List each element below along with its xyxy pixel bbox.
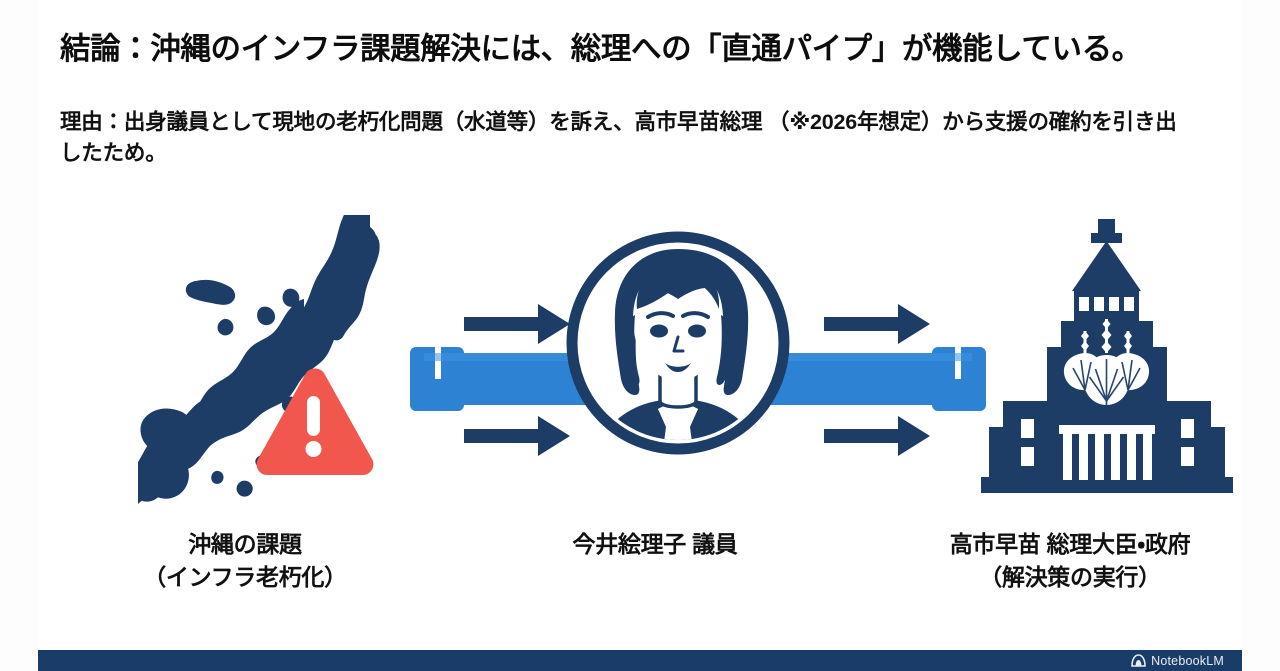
caption-government-line2: （解決策の実行） — [880, 561, 1260, 594]
slide-canvas: 結論：沖縄のインフラ課題解決には、総理への「直通パイプ」が機能している。 理由：… — [0, 0, 1280, 671]
caption-legislator: 今井絵理子 議員 — [510, 528, 800, 561]
diagram-node-legislator — [553, 215, 803, 515]
female-politician-portrait-icon — [553, 223, 803, 523]
caption-government: 高市早苗 総理大臣・政府 （解決策の実行） — [880, 528, 1260, 593]
notebooklm-logo-icon — [1131, 654, 1146, 667]
caption-legislator-line1: 今井絵理子 議員 — [573, 531, 738, 557]
page-title: 結論：沖縄のインフラ課題解決には、総理への「直通パイプ」が機能している。 — [60, 30, 1190, 68]
warning-triangle-icon — [248, 363, 378, 483]
diagram-node-okinawa — [138, 215, 408, 515]
footer-bar: NotebookLM — [38, 650, 1242, 671]
diagram-node-government — [963, 215, 1233, 515]
caption-government-line1: 高市早苗 総理大臣・政府 — [950, 531, 1191, 557]
process-diagram — [38, 215, 1242, 515]
notebooklm-label: NotebookLM — [1151, 654, 1224, 668]
caption-okinawa-line1: 沖縄の課題 — [188, 531, 302, 557]
caption-okinawa: 沖縄の課題 （インフラ老朽化） — [85, 528, 405, 593]
slide-subtitle: 理由：出身議員として現地の老朽化問題（水道等）を訴え、高市早苗総理 （※2026… — [60, 107, 1180, 168]
caption-okinawa-line2: （インフラ老朽化） — [85, 561, 405, 594]
national-diet-building-icon — [973, 215, 1243, 515]
notebooklm-brand: NotebookLM — [1131, 654, 1224, 668]
